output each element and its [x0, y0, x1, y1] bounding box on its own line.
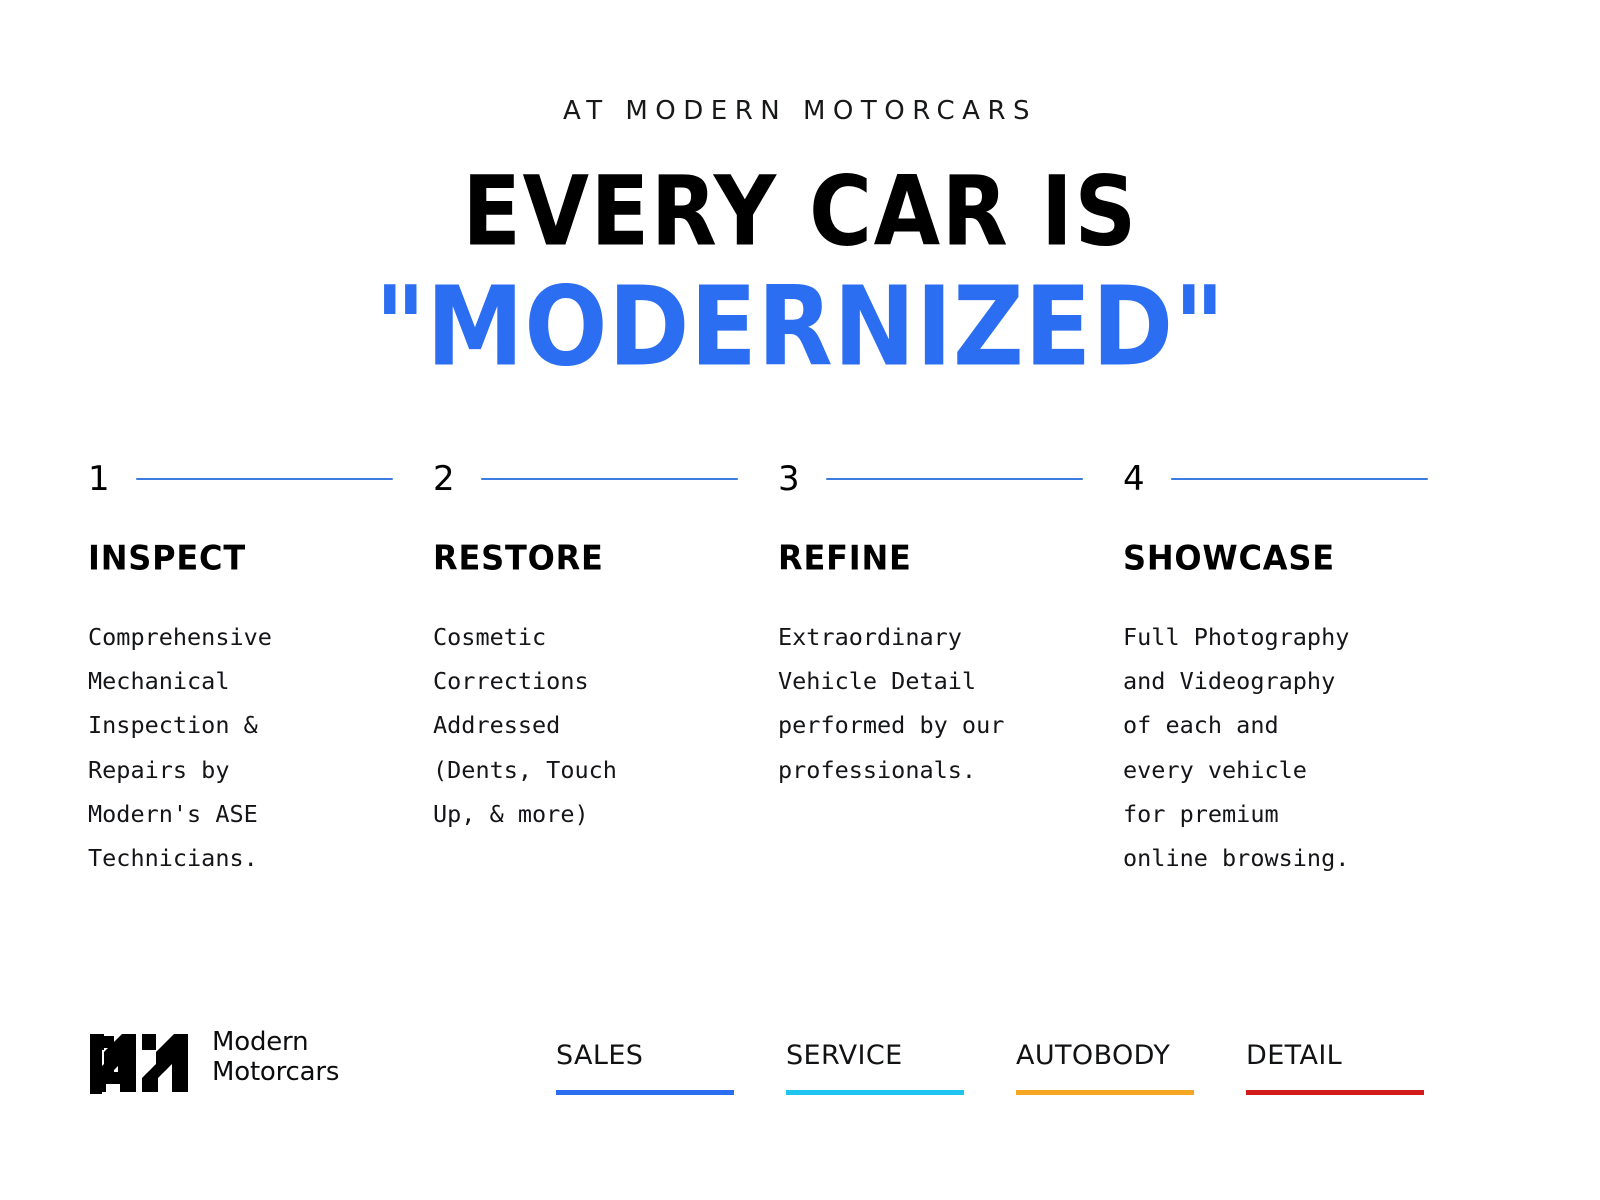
footer-nav-label: AUTOBODY — [1016, 1042, 1194, 1069]
step-item: 2 RESTORE Cosmetic Corrections Addressed… — [433, 462, 778, 880]
step-body-text: Full Photography and Videography of each… — [1123, 615, 1428, 880]
marketing-slide: AT MODERN MOTORCARS EVERY CAR IS "MODERN… — [0, 0, 1600, 1200]
footer-nav-label: SERVICE — [786, 1042, 964, 1069]
footer-nav-item-sales[interactable]: SALES — [556, 1042, 786, 1095]
footer-nav-item-autobody[interactable]: AUTOBODY — [1016, 1042, 1246, 1095]
step-body-text: Cosmetic Corrections Addressed (Dents, T… — [433, 615, 738, 836]
footer-nav-underline — [1016, 1090, 1194, 1095]
step-item: 4 SHOWCASE Full Photography and Videogra… — [1123, 462, 1468, 880]
step-item: 1 INSPECT Comprehensive Mechanical Inspe… — [88, 462, 433, 880]
step-divider-rule — [481, 478, 738, 480]
step-header: 1 — [88, 462, 393, 496]
modern-motorcars-mm-monogram-icon — [88, 1020, 192, 1094]
step-header: 2 — [433, 462, 738, 496]
step-header: 3 — [778, 462, 1083, 496]
footer-nav-underline — [1246, 1090, 1424, 1095]
step-body-text: Extraordinary Vehicle Detail performed b… — [778, 615, 1083, 792]
eyebrow-text: AT MODERN MOTORCARS — [0, 98, 1600, 124]
step-number: 1 — [88, 462, 114, 496]
step-divider-rule — [1171, 478, 1428, 480]
step-title: RESTORE — [433, 541, 738, 575]
step-title: SHOWCASE — [1123, 541, 1428, 575]
headline-line-1: EVERY CAR IS — [0, 166, 1600, 258]
brand-name-line-1: Modern — [212, 1027, 339, 1057]
step-number: 4 — [1123, 462, 1149, 496]
process-steps: 1 INSPECT Comprehensive Mechanical Inspe… — [88, 462, 1468, 880]
step-number: 2 — [433, 462, 459, 496]
step-body-text: Comprehensive Mechanical Inspection & Re… — [88, 615, 393, 880]
step-number: 3 — [778, 462, 804, 496]
headline-line-2: "MODERNIZED" — [0, 275, 1600, 380]
brand-name-line-2: Motorcars — [212, 1057, 339, 1087]
footer-nav-item-service[interactable]: SERVICE — [786, 1042, 1016, 1095]
step-title: INSPECT — [88, 541, 393, 575]
step-divider-rule — [826, 478, 1083, 480]
brand-wordmark: Modern Motorcars — [212, 1027, 339, 1087]
footer-nav: SALES SERVICE AUTOBODY DETAIL — [556, 1042, 1476, 1095]
footer-nav-label: SALES — [556, 1042, 734, 1069]
step-divider-rule — [136, 478, 393, 480]
header: AT MODERN MOTORCARS EVERY CAR IS "MODERN… — [0, 0, 1600, 369]
step-item: 3 REFINE Extraordinary Vehicle Detail pe… — [778, 462, 1123, 880]
step-header: 4 — [1123, 462, 1428, 496]
footer-nav-label: DETAIL — [1246, 1042, 1424, 1069]
footer-nav-item-detail[interactable]: DETAIL — [1246, 1042, 1476, 1095]
footer-nav-underline — [556, 1090, 734, 1095]
footer-nav-underline — [786, 1090, 964, 1095]
brand-lockup[interactable]: Modern Motorcars — [88, 1020, 339, 1094]
step-title: REFINE — [778, 541, 1083, 575]
footer: Modern Motorcars SALES SERVICE AUTOBODY … — [0, 1012, 1600, 1122]
